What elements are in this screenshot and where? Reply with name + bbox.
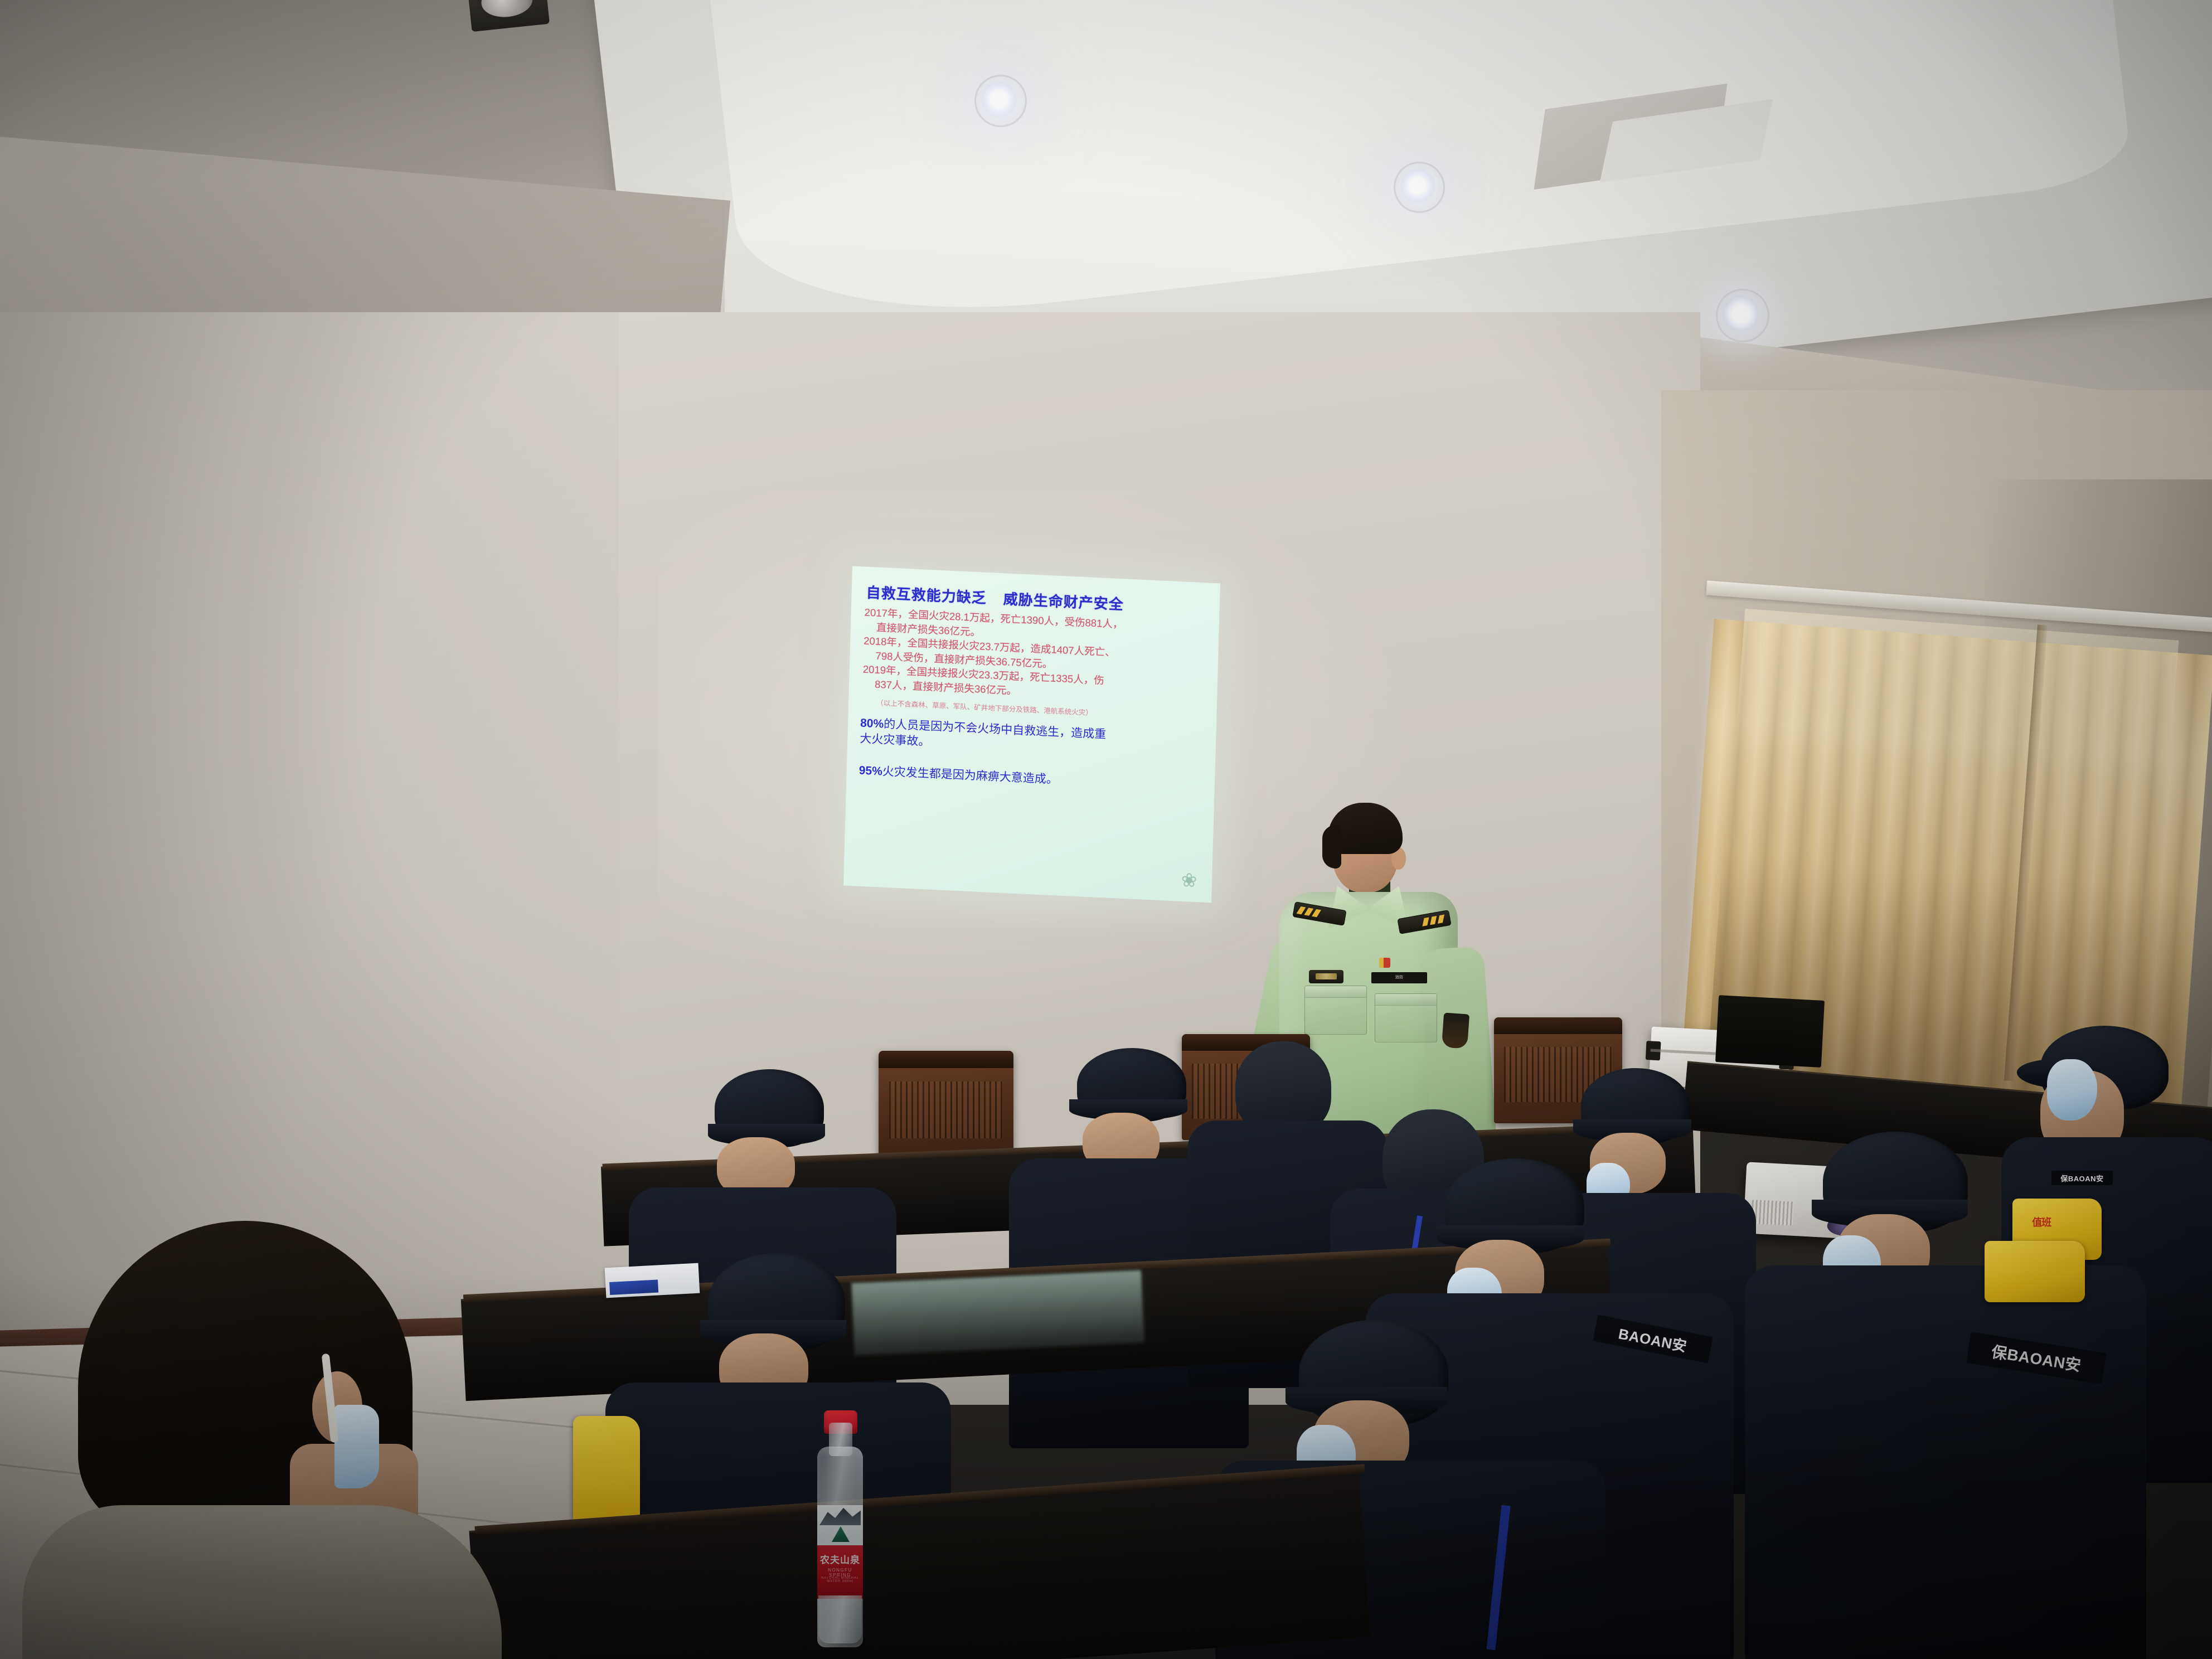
slide-stat-2: 95%火灾发生都是因为麻痹大意造成。 [858, 761, 1204, 794]
attendee-face-mask [334, 1405, 379, 1488]
paper-stack [605, 1263, 700, 1298]
downlight-icon-2 [1400, 168, 1435, 203]
conference-room-photo: 自救互救能力缺乏威胁生命财产安全 2017年，全国火灾28.1万起，死亡1390… [0, 0, 2212, 1659]
attendee-body [1745, 1265, 2146, 1659]
projected-slide: 自救互救能力缺乏威胁生命财产安全 2017年，全国火灾28.1万起，死亡1390… [843, 566, 1220, 903]
presenter-shoulder-patch [1442, 1012, 1469, 1049]
slide-stat-2-pct: 95% [858, 764, 882, 778]
slide-body: 2017年，全国火灾28.1万起，死亡1390人，受伤881人， 直接财产损失3… [862, 605, 1208, 707]
desk-slide-reflection [851, 1270, 1144, 1355]
bottle-brand-cn: 农夫山泉 [817, 1552, 863, 1566]
bottle-brand-sub: NATURAL MINERAL WATER 380ml [817, 1576, 863, 1583]
slide-title-left: 自救互救能力缺乏 [866, 584, 987, 607]
downlight-icon-1 [981, 81, 1017, 117]
ceiling-speaker-lens [480, 0, 534, 20]
presenter-chest-badge [1309, 970, 1343, 983]
slide-stat-2-text: 火灾发生都是因为麻痹大意造成。 [882, 765, 1059, 786]
presenter-pocket-left [1304, 986, 1367, 1035]
presenter-nameplate: 消防 [1371, 972, 1427, 983]
attendee-armband-text: 值班 [2032, 1215, 2051, 1229]
slide-stat-1-pct: 80% [860, 717, 884, 731]
presenter-flag-pin-icon [1379, 958, 1390, 968]
bottle-base [818, 1595, 862, 1643]
presenter-pocket-right [1375, 993, 1437, 1042]
chair-back-left [879, 1051, 1013, 1160]
presenter-hair-side [1322, 825, 1341, 869]
bottle-label-lower: 农夫山泉 NONGFU SPRING NATURAL MINERAL WATER… [817, 1545, 863, 1599]
attendee-uniform-patch-text: 保BAOAN安 [2060, 1173, 2103, 1183]
presenter-nameplate-text: 消防 [1372, 973, 1427, 983]
downlight-icon-3 [1723, 295, 1759, 332]
attendee-uniform-patch: 保BAOAN安 [2051, 1171, 2113, 1185]
attendee-shirt [22, 1505, 502, 1659]
slide-title-right: 威胁生命财产安全 [1003, 590, 1124, 613]
slide-stat-1-text-b: 大火灾事故。 [860, 732, 930, 748]
slide-stat-1: 80%的人员是因为不会火场中自救逃生，造成重 大火灾事故。 [860, 716, 1205, 763]
slide-flower-icon: ❀ [1176, 865, 1202, 897]
black-equipment-box [1715, 995, 1825, 1068]
attendee-face-mask [2047, 1059, 2097, 1120]
attendee-armband [1985, 1241, 2085, 1302]
